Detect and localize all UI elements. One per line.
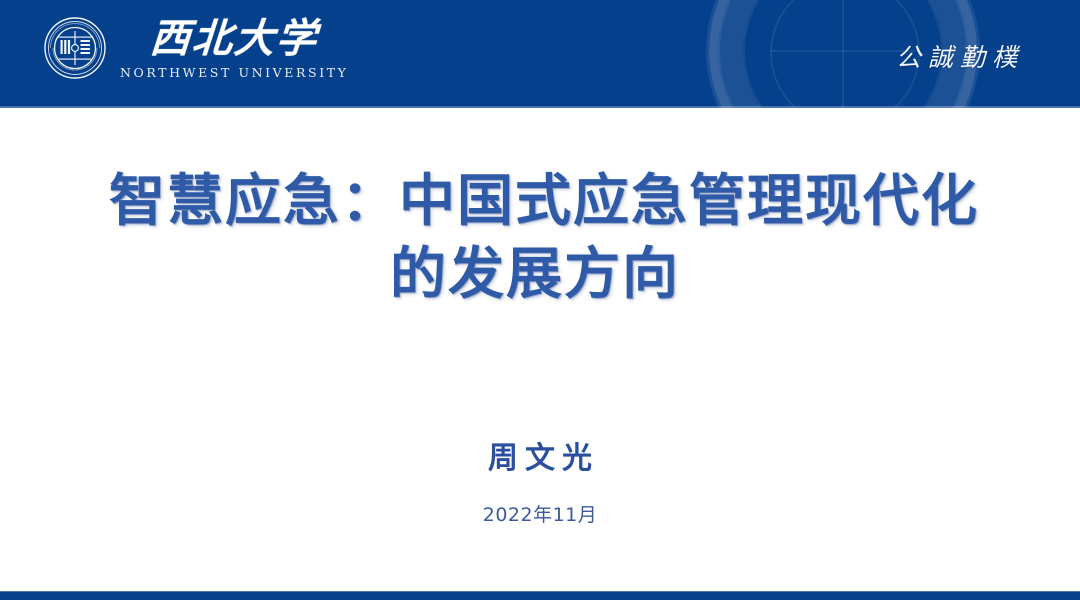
page-title: 智慧应急：中国式应急管理现代化 的发展方向 <box>0 166 1080 312</box>
title-slide: 西北大学 NORTHWEST UNIVERSITY 公誠勤樸 智慧应急：中国式应… <box>0 0 1080 600</box>
footer-bar <box>0 591 1080 600</box>
header-band: 西北大学 NORTHWEST UNIVERSITY 公誠勤樸 <box>0 0 1080 108</box>
byline: 周文光 2022年11月 <box>0 440 1080 527</box>
university-logo: 西北大学 NORTHWEST UNIVERSITY <box>44 16 349 80</box>
university-seal-icon <box>44 17 106 79</box>
university-name-cn: 西北大学 <box>149 18 320 60</box>
title-line-1: 智慧应急：中国式应急管理现代化 <box>0 166 1080 239</box>
presentation-date: 2022年11月 <box>0 500 1080 527</box>
university-motto: 公誠勤樸 <box>896 38 1024 74</box>
author-name: 周文光 <box>0 440 1080 478</box>
university-name-en: NORTHWEST UNIVERSITY <box>120 65 349 80</box>
title-line-2: 的发展方向 <box>0 239 1080 312</box>
